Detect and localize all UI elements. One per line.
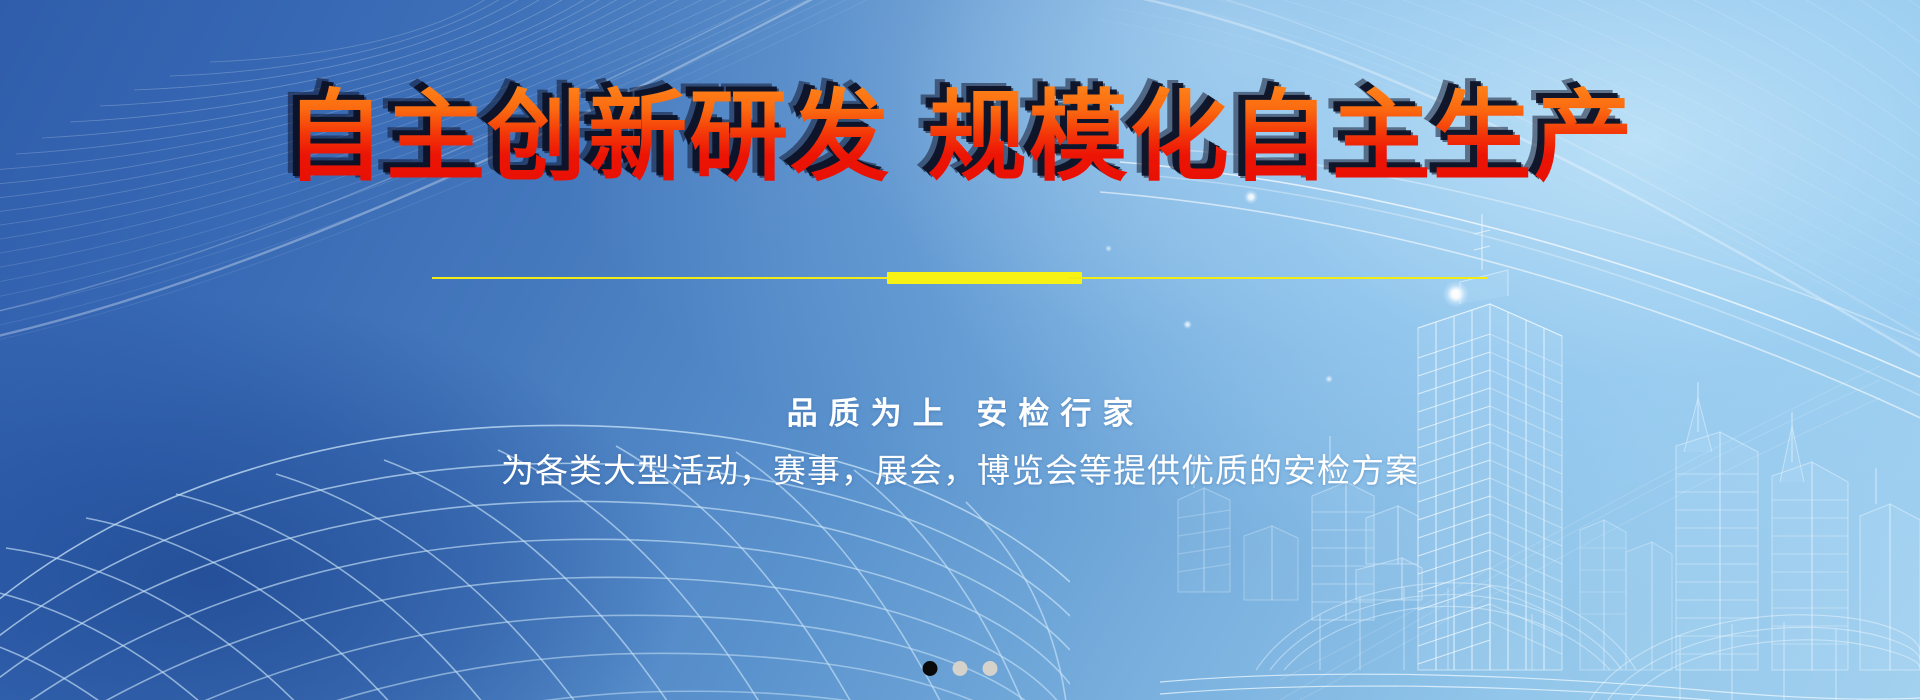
divider-rule-left <box>432 277 902 279</box>
divider-rule-right <box>1068 277 1488 279</box>
light-spark-icon-1 <box>1443 281 1469 307</box>
carousel-dot-1[interactable] <box>923 661 938 676</box>
title-divider <box>432 272 1488 284</box>
tagline-secondary: 为各类大型活动，赛事，展会，博览会等提供优质的安检方案 <box>0 444 1920 492</box>
hero-banner: 自主创新研发 规模化自主生产 品质为上 安检行家 为各类大型活动，赛事，展会，博… <box>0 0 1920 700</box>
wireframe-mesh-icon <box>0 290 1070 700</box>
carousel-dot-3[interactable] <box>983 661 998 676</box>
line-fan-icon-right <box>1100 0 1920 410</box>
light-spark-icon-4 <box>1325 375 1333 383</box>
carousel-pagination[interactable] <box>923 661 998 676</box>
page-title: 自主创新研发 规模化自主生产 <box>0 78 1920 198</box>
divider-accent-bar <box>887 272 1082 284</box>
light-spark-icon-3 <box>1183 320 1192 329</box>
tagline-primary: 品质为上 安检行家 <box>0 388 1920 433</box>
light-spark-icon-5 <box>1105 245 1112 252</box>
carousel-dot-2[interactable] <box>953 661 968 676</box>
